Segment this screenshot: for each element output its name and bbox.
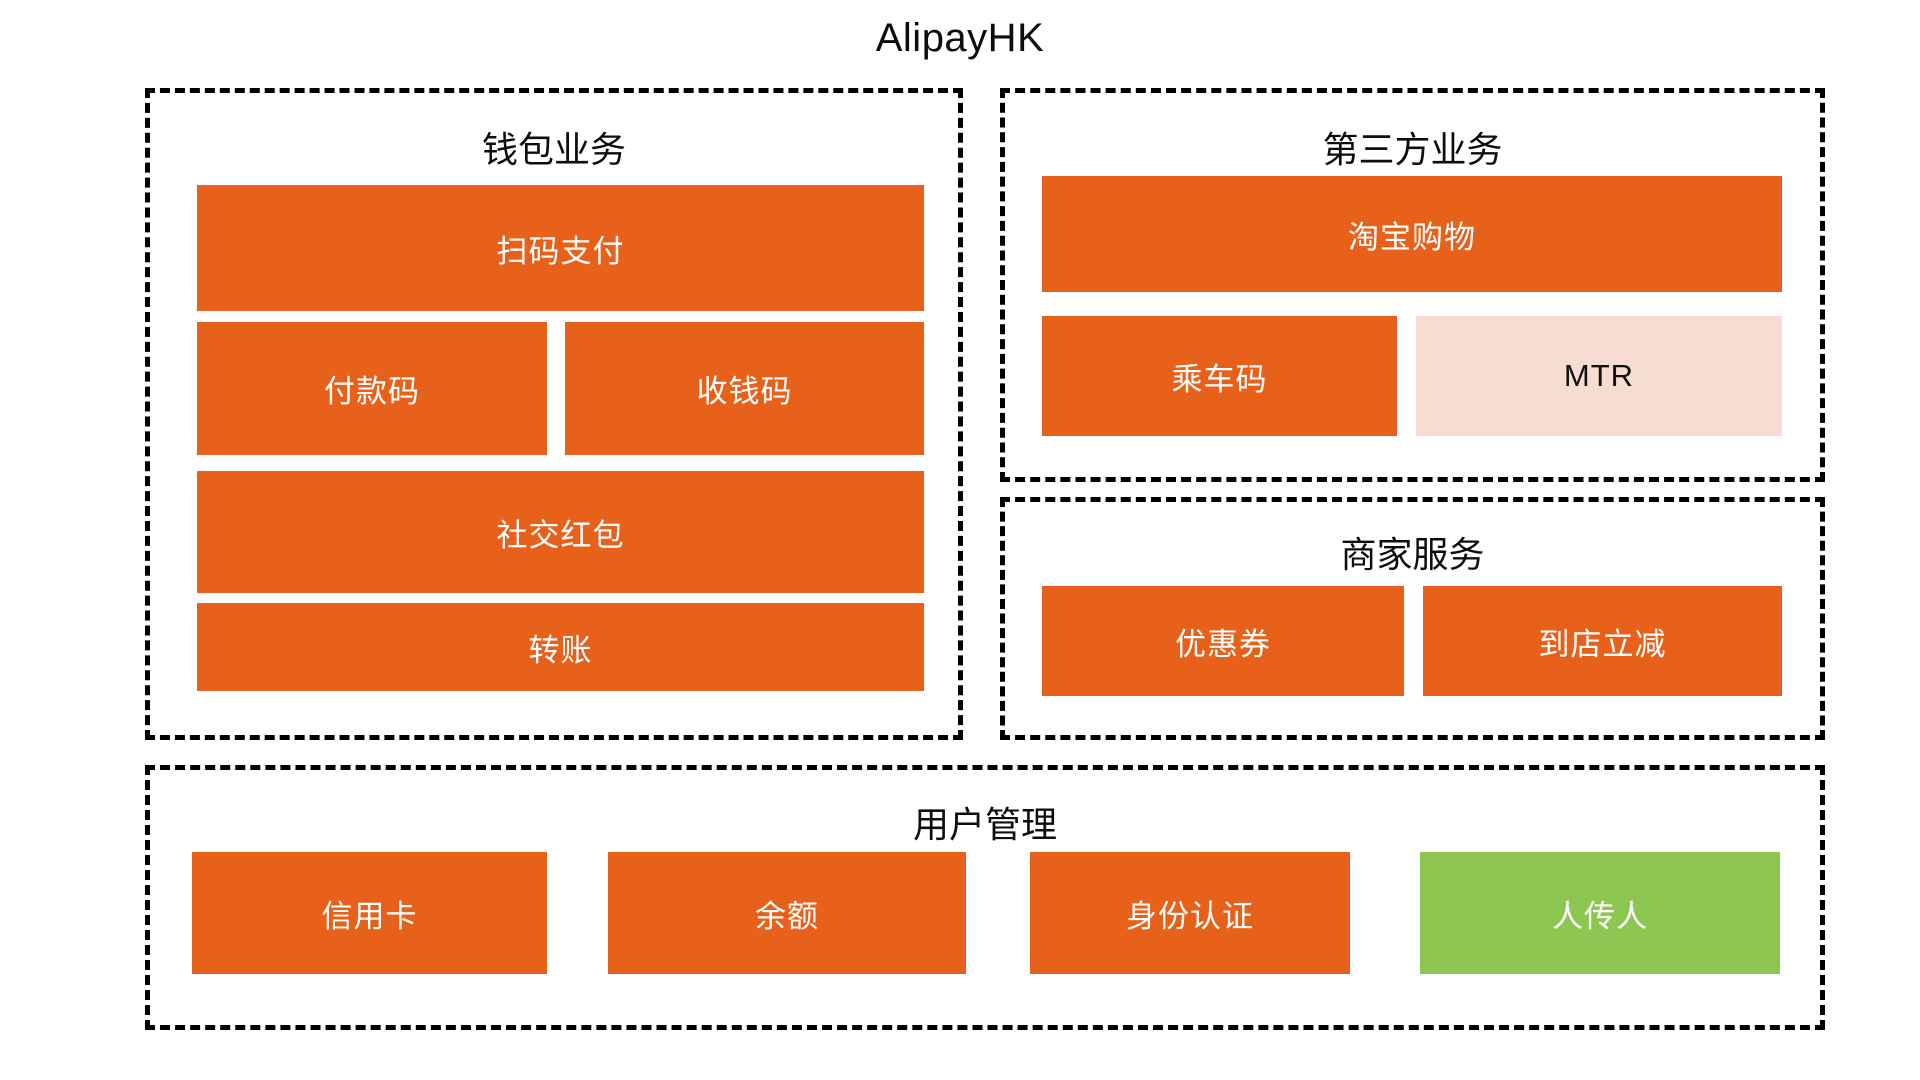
panel-title-user-management: 用户管理 (150, 796, 1820, 848)
node-person-to-person[interactable]: 人传人 (1420, 852, 1780, 974)
panel-title-third-party-business: 第三方业务 (1005, 121, 1820, 173)
node-receive-code[interactable]: 收钱码 (565, 322, 924, 455)
node-social-red-packet[interactable]: 社交红包 (197, 471, 924, 593)
node-scan-pay[interactable]: 扫码支付 (197, 185, 924, 311)
node-coupon[interactable]: 优惠券 (1042, 586, 1404, 696)
node-taobao-shopping[interactable]: 淘宝购物 (1042, 176, 1782, 292)
node-credit-card[interactable]: 信用卡 (192, 852, 547, 974)
node-transfer[interactable]: 转账 (197, 603, 924, 691)
node-payment-code[interactable]: 付款码 (197, 322, 547, 455)
node-transit-code[interactable]: 乘车码 (1042, 316, 1397, 436)
node-in-store-discount[interactable]: 到店立减 (1423, 586, 1782, 696)
diagram-canvas: AlipayHK 钱包业务 扫码支付 付款码 收钱码 社交红包 转账 第三方业务… (0, 0, 1920, 1080)
node-identity-verification[interactable]: 身份认证 (1030, 852, 1350, 974)
node-mtr[interactable]: MTR (1416, 316, 1782, 436)
panel-title-wallet-business: 钱包业务 (150, 121, 958, 173)
panel-title-merchant-services: 商家服务 (1005, 526, 1820, 578)
node-balance[interactable]: 余额 (608, 852, 966, 974)
page-title: AlipayHK (0, 16, 1920, 61)
